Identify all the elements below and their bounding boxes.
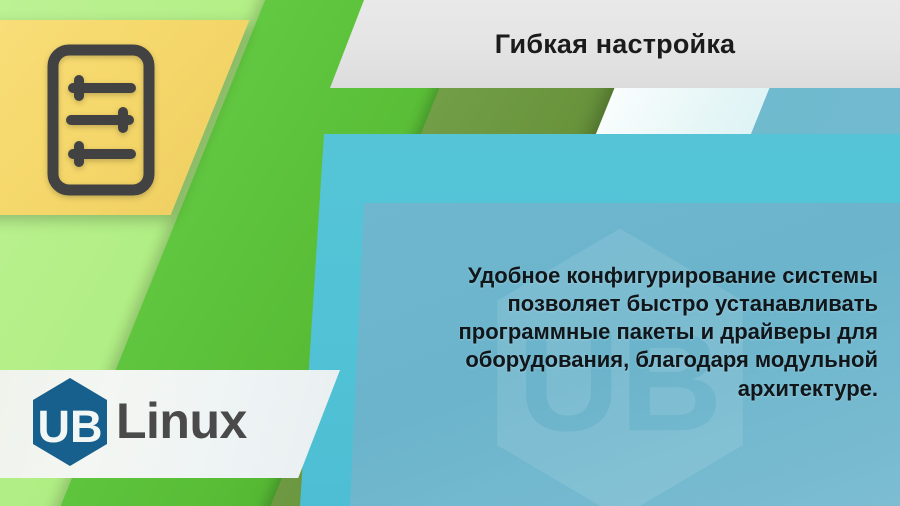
title-banner: Гибкая настройка: [300, 0, 900, 88]
body-paragraph: Удобное конфигурирование системы позволя…: [400, 262, 878, 403]
settings-sliders-icon: [47, 44, 155, 196]
slide-root: UB Гибкая настройка Удобное конфигуриров…: [0, 0, 900, 506]
logo-wordmark: Linux: [116, 396, 247, 446]
page-title: Гибкая настройка: [495, 29, 736, 60]
brand-logo: UB Linux: [30, 372, 247, 472]
ub-hexagon-icon: UB: [30, 376, 110, 468]
logo-mark-text: UB: [38, 401, 103, 452]
